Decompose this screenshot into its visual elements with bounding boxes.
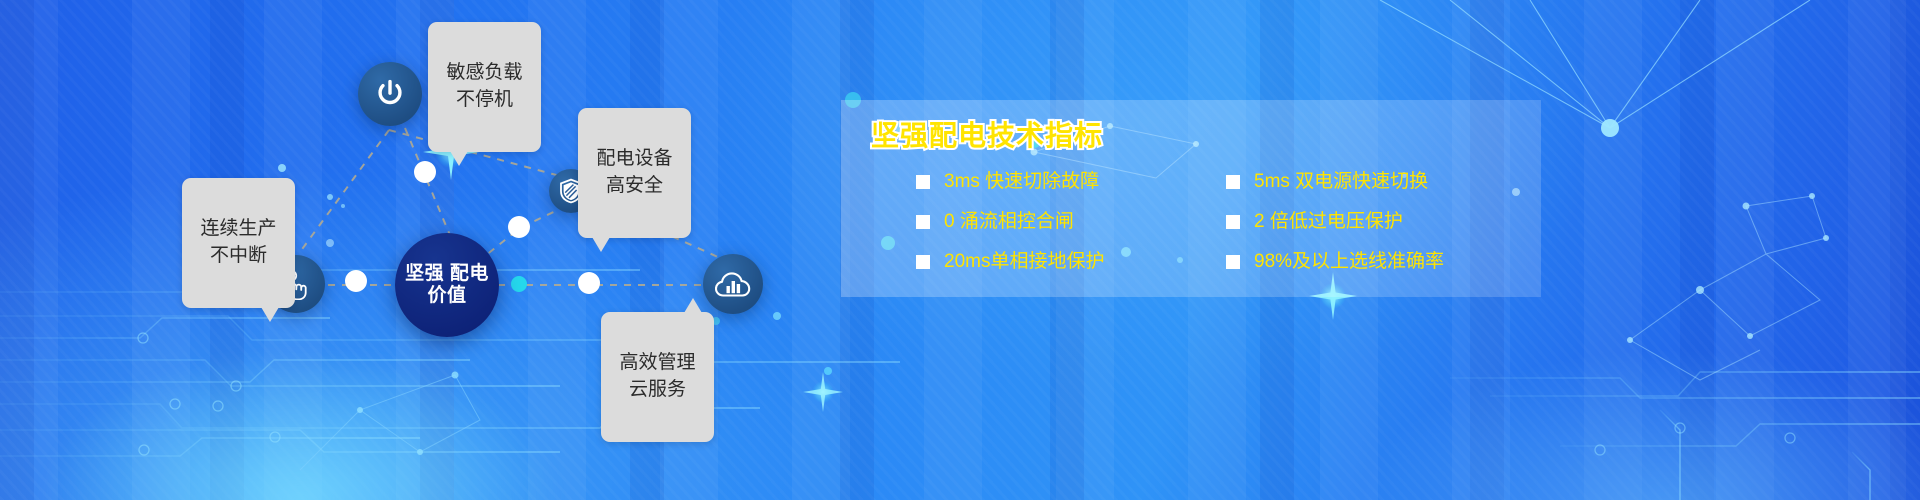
banner-stage: 坚强 配电 价值 敏感负载 不停机 配电设备 高安全 连续生产 不中断 高效管理… xyxy=(0,0,1920,500)
panel-indicator-grid: 3ms 快速切除故障 5ms 双电源快速切换 0 涌流相控合闸 2 倍低过电压保… xyxy=(916,172,1526,271)
callout-cloud-management[interactable]: 高效管理 云服务 xyxy=(601,312,714,442)
circuit-traces-right xyxy=(1450,372,1920,500)
bubble-tail xyxy=(450,151,468,166)
callout-equipment-safety[interactable]: 配电设备 高安全 xyxy=(578,108,691,238)
indicator-item[interactable]: 5ms 双电源快速切换 xyxy=(1226,172,1526,191)
bullet-square-icon xyxy=(1226,175,1240,189)
node-power[interactable] xyxy=(358,62,422,126)
callout-sensitive-load-label: 敏感负载 不停机 xyxy=(446,62,522,110)
callout-sensitive-load[interactable]: 敏感负载 不停机 xyxy=(428,22,541,152)
constellation-hub-dot xyxy=(1601,119,1619,137)
bullet-square-icon xyxy=(916,255,930,269)
bullet-square-icon xyxy=(916,215,930,229)
bullet-square-icon xyxy=(1226,215,1240,229)
callout-continuous-production[interactable]: 连续生产 不中断 xyxy=(182,178,295,308)
indicator-label: 20ms单相接地保护 xyxy=(944,252,1104,271)
tech-indicator-panel: 坚强配电技术指标 3ms 快速切除故障 5ms 双电源快速切换 0 涌流相控合闸… xyxy=(841,100,1541,297)
bubble-tail xyxy=(684,298,702,313)
indicator-item[interactable]: 2 倍低过电压保护 xyxy=(1226,212,1526,231)
bubble-tail xyxy=(592,237,610,252)
bullet-square-icon xyxy=(1226,255,1240,269)
power-icon xyxy=(373,77,407,111)
callout-cloud-management-label: 高效管理 云服务 xyxy=(619,352,695,400)
callout-equipment-safety-label: 配电设备 高安全 xyxy=(596,148,672,196)
center-node-value[interactable]: 坚强 配电 价值 xyxy=(395,233,499,337)
cloud-chart-icon xyxy=(715,270,751,298)
callout-continuous-production-label: 连续生产 不中断 xyxy=(200,218,276,266)
indicator-item[interactable]: 3ms 快速切除故障 xyxy=(916,172,1216,191)
indicator-item[interactable]: 20ms单相接地保护 xyxy=(916,252,1216,271)
bubble-tail xyxy=(261,307,279,322)
indicator-label: 2 倍低过电压保护 xyxy=(1254,212,1403,231)
indicator-item[interactable]: 98%及以上选线准确率 xyxy=(1226,252,1526,271)
panel-title: 坚强配电技术指标 xyxy=(871,114,1103,154)
indicator-item[interactable]: 0 涌流相控合闸 xyxy=(916,212,1216,231)
indicator-label: 5ms 双电源快速切换 xyxy=(1254,172,1428,191)
constellation-bottom-left xyxy=(300,375,480,470)
indicator-label: 98%及以上选线准确率 xyxy=(1254,252,1444,271)
circuit-nodes-left xyxy=(138,333,280,455)
node-cloud[interactable] xyxy=(703,254,763,314)
indicator-label: 3ms 快速切除故障 xyxy=(944,172,1099,191)
indicator-label: 0 涌流相控合闸 xyxy=(944,212,1074,231)
circuit-nodes-right xyxy=(1595,423,1795,455)
center-node-label: 坚强 配电 价值 xyxy=(395,263,499,308)
bullet-square-icon xyxy=(916,175,930,189)
